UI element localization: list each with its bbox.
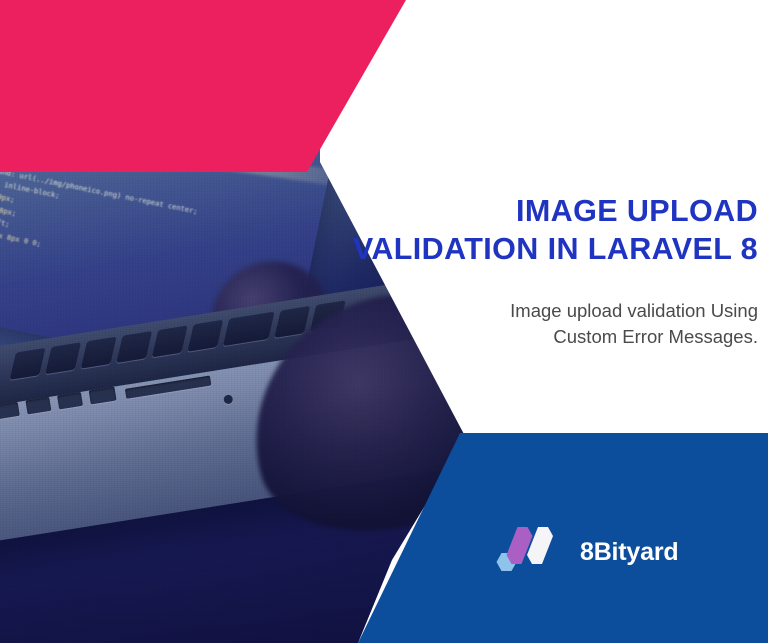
brand-wordmark: 8Bityard (580, 540, 678, 565)
subhead-line-1: Image upload validation Using (510, 300, 758, 321)
pink-accent-shape (0, 0, 420, 176)
page-title: IMAGE UPLOAD VALIDATION IN LARAVEL 8 (218, 192, 758, 268)
page-subtitle: Image upload validation Using Custom Err… (218, 298, 758, 350)
subhead-line-2: Custom Error Messages. (218, 324, 758, 350)
brand-logo: 8Bityard (488, 522, 678, 582)
poster-canvas: 138 -size: 22px; 139 or: #1d1d1d; 140 t-… (0, 0, 768, 643)
poster-text-block: IMAGE UPLOAD VALIDATION IN LARAVEL 8 Ima… (218, 192, 758, 350)
8bityard-hexagon-m-mark (488, 522, 564, 582)
headline-line-1: IMAGE UPLOAD (516, 194, 758, 228)
headline-line-2: VALIDATION IN LARAVEL 8 (218, 230, 758, 268)
